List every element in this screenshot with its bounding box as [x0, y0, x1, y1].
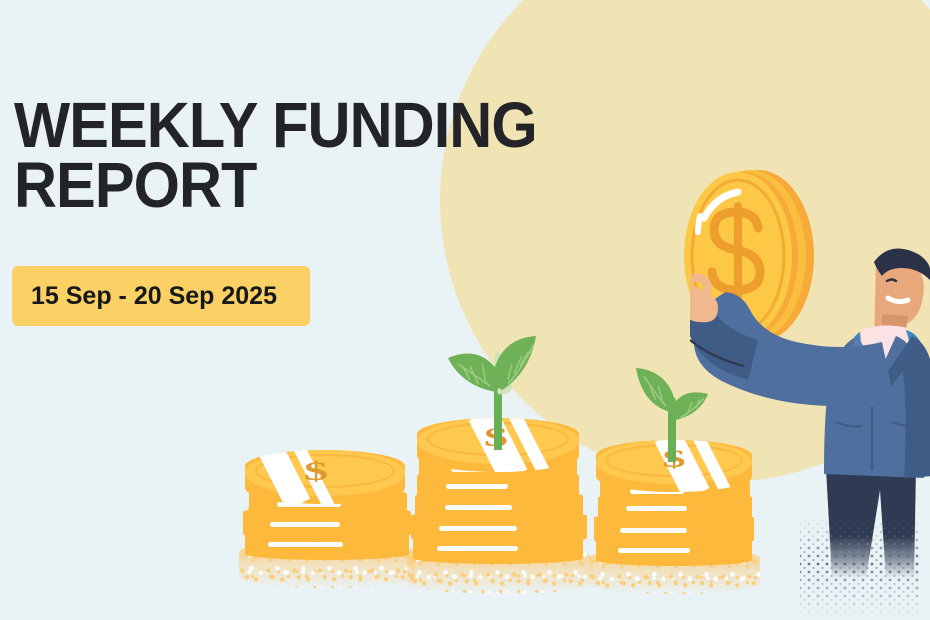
plant-sprout-middle	[428, 328, 568, 450]
coin-top: $	[245, 450, 405, 504]
date-range-label: 15 Sep - 20 Sep 2025	[31, 282, 277, 311]
left-coin-stack: $	[243, 450, 411, 580]
page-title-line-2: REPORT	[14, 155, 572, 215]
businessman-figure	[690, 218, 930, 620]
headline-block: WEEKLY FUNDING REPORT	[14, 95, 614, 215]
poster-canvas: $ $	[0, 0, 930, 620]
page-title-line-1: WEEKLY FUNDING	[14, 95, 572, 155]
date-range-badge[interactable]: 15 Sep - 20 Sep 2025	[12, 266, 310, 326]
coin-dollar-sign: $	[293, 456, 339, 486]
